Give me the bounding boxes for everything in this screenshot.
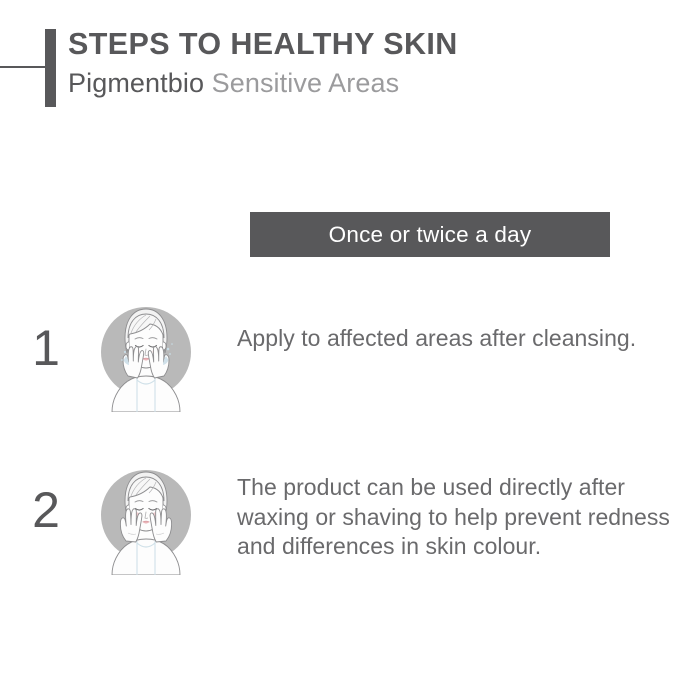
woman-applying-product-to-face-icon — [92, 300, 200, 412]
frequency-banner: Once or twice a day — [250, 212, 610, 257]
step-row: 1 — [0, 300, 700, 412]
woman-hands-raised-to-face-icon — [92, 463, 200, 575]
product-variant: Sensitive Areas — [212, 68, 400, 98]
frequency-banner-label: Once or twice a day — [329, 222, 532, 248]
step-description: Apply to affected areas after cleansing. — [200, 300, 700, 354]
step-row: 2 — [0, 463, 700, 575]
header-text-block: STEPS TO HEALTHY SKIN Pigmentbio Sensiti… — [68, 26, 688, 100]
page-subtitle: Pigmentbio Sensitive Areas — [68, 67, 688, 100]
header-rule-line — [0, 66, 48, 68]
step-description: The product can be used directly after w… — [200, 463, 700, 562]
step-number: 2 — [0, 463, 92, 540]
brand-name: Pigmentbio — [68, 68, 204, 98]
step-number: 1 — [0, 300, 92, 378]
page-header: STEPS TO HEALTHY SKIN Pigmentbio Sensiti… — [0, 0, 700, 130]
header-accent-bar — [45, 29, 56, 107]
page-title: STEPS TO HEALTHY SKIN — [68, 26, 688, 62]
